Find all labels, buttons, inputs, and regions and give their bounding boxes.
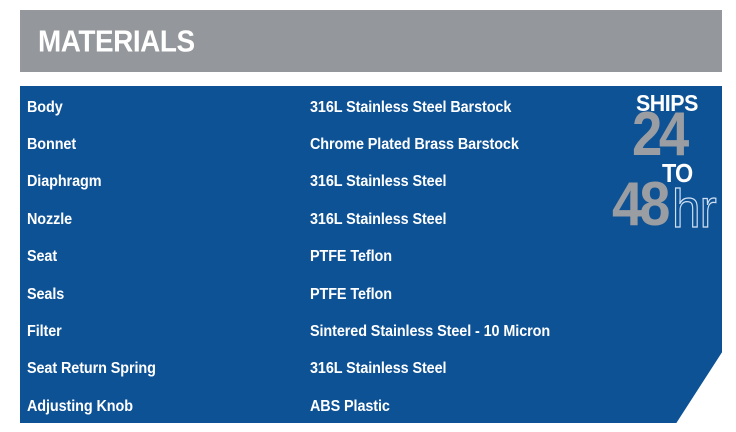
materials-table-panel: Body316L Stainless Steel BarstockBonnetC… [20, 86, 722, 423]
table-cell-component: Seals [27, 287, 64, 303]
table-row: Adjusting KnobABS Plastic [20, 388, 722, 423]
table-cell-material: 316L Stainless Steel [310, 361, 446, 377]
ships-24-to-48hr-badge: SHIPS 24 TO 48 hr [610, 86, 722, 258]
table-cell-component: Body [27, 100, 63, 116]
table-cell-component: Diaphragm [27, 174, 101, 190]
badge-hr-label: hr [672, 182, 716, 236]
badge-24-label: 24 [632, 104, 686, 166]
table-cell-material: 316L Stainless Steel [310, 174, 446, 190]
table-cell-component: Filter [27, 324, 62, 340]
table-cell-component: Seat [27, 249, 57, 265]
table-cell-component: Bonnet [27, 137, 76, 153]
table-cell-material: PTFE Teflon [310, 287, 392, 303]
table-cell-material: Sintered Stainless Steel - 10 Micron [310, 324, 550, 340]
table-row: FilterSintered Stainless Steel - 10 Micr… [20, 313, 722, 350]
table-cell-material: Chrome Plated Brass Barstock [310, 137, 519, 153]
table-cell-component: Nozzle [27, 212, 72, 228]
table-cell-material: 316L Stainless Steel Barstock [310, 100, 511, 116]
table-cell-material: 316L Stainless Steel [310, 212, 446, 228]
table-cell-material: ABS Plastic [310, 399, 390, 415]
table-row: SealsPTFE Teflon [20, 276, 722, 313]
page-title: MATERIALS [38, 26, 195, 57]
materials-spec-card: MATERIALS Body316L Stainless Steel Barst… [0, 0, 736, 432]
badge-48-label: 48 [612, 174, 667, 236]
table-cell-material: PTFE Teflon [310, 249, 392, 265]
header-bar: MATERIALS [20, 10, 722, 72]
table-row: Seat Return Spring316L Stainless Steel [20, 351, 722, 388]
table-cell-component: Adjusting Knob [27, 399, 133, 415]
table-cell-component: Seat Return Spring [27, 361, 156, 377]
